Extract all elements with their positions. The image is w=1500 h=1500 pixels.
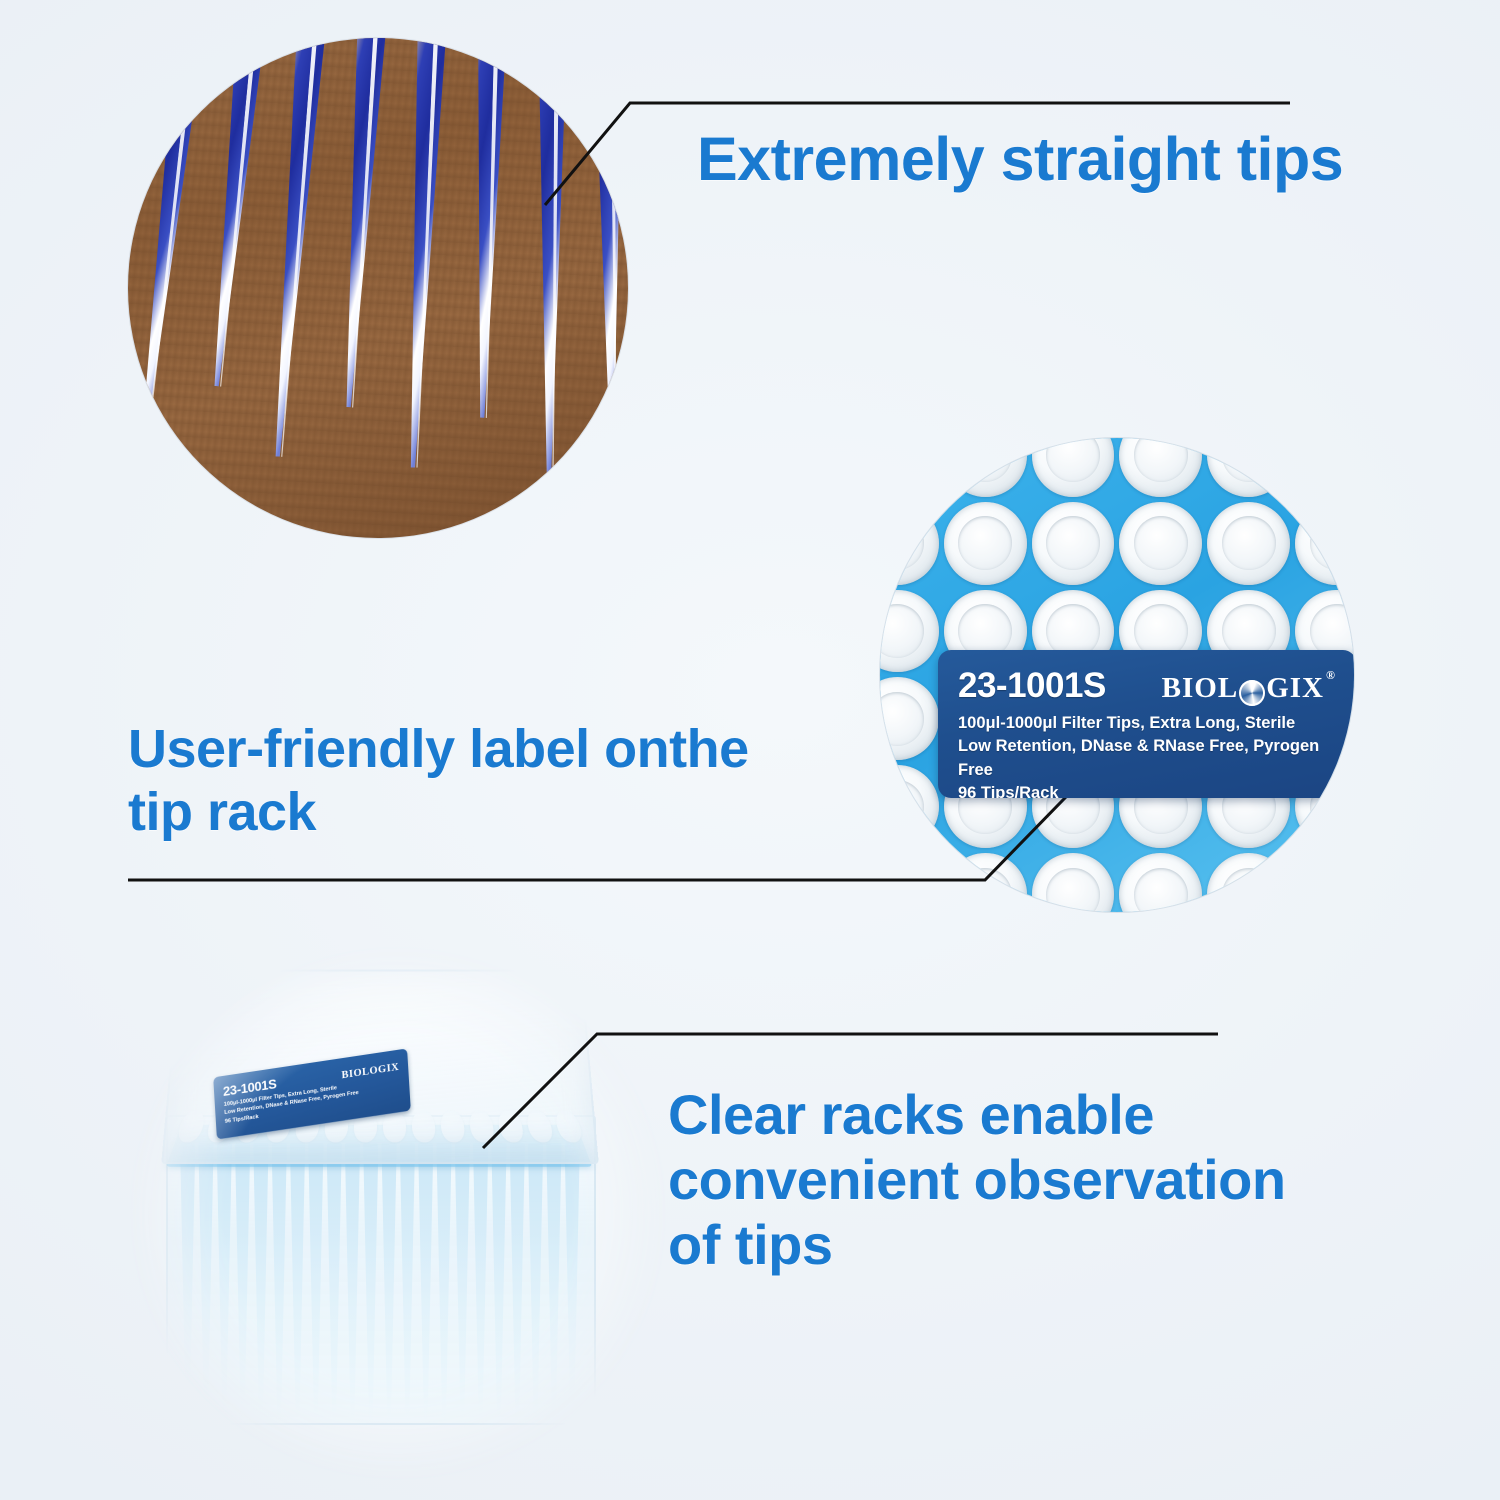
tip-shaft: [418, 1143, 433, 1423]
tip-shaft: [180, 1143, 195, 1423]
pipette-tip: [467, 38, 508, 418]
label-description: 100μl-1000μl Filter Tips, Extra Long, St…: [958, 712, 1336, 798]
callout-headline-tips: Extremely straight tips: [697, 124, 1343, 195]
label-header-row: 23-1001S BIOLGIX®: [958, 666, 1336, 706]
photo-rack-box: 23-1001S BIOLOGIX 100μl-1000μl Filter Ti…: [118, 935, 678, 1491]
rack-well: [1295, 502, 1354, 585]
tip-shaft: [272, 1143, 287, 1423]
rack-well: [1119, 438, 1202, 497]
pipette-tip: [263, 38, 328, 458]
tip-shaft: [436, 1143, 451, 1423]
rack-well: [880, 438, 939, 497]
rack-well: [1119, 502, 1202, 585]
tip-shaft: [308, 1143, 323, 1423]
rack-well: [880, 590, 939, 673]
biologix-swirl-icon: [1239, 680, 1265, 706]
tip-shaft: [491, 1143, 506, 1423]
tip-shaft: [235, 1143, 250, 1423]
pipette-tip: [128, 38, 208, 447]
tip-shaft: [565, 1143, 580, 1423]
infographic-canvas: 23-1001S BIOLGIX® 100μl-1000μl Filter Ti…: [0, 0, 1500, 1500]
photo-rack-topview: 23-1001S BIOLGIX® 100μl-1000μl Filter Ti…: [880, 438, 1354, 912]
tip-shaft: [455, 1143, 470, 1423]
tip-shaft: [345, 1143, 360, 1423]
label-sku: 23-1001S: [958, 666, 1106, 706]
tip-shafts: [174, 1143, 586, 1423]
rack-well: [1119, 853, 1202, 912]
rack-well: [944, 438, 1027, 497]
tip-shaft: [363, 1143, 378, 1423]
tip-shaft: [381, 1143, 396, 1423]
rack-well: [1207, 438, 1290, 497]
rack-well: [1032, 438, 1115, 497]
pipette-tip: [334, 38, 388, 408]
pipette-tip: [202, 38, 268, 388]
callout-headline-racks: Clear racks enable convenient observatio…: [668, 1083, 1286, 1278]
rack-well: [880, 502, 939, 585]
tip-shaft: [510, 1143, 525, 1423]
label-brand: BIOLGIX®: [1162, 672, 1336, 705]
rack-well: [880, 765, 939, 848]
rack-well: [1207, 502, 1290, 585]
tip-shaft: [290, 1143, 305, 1423]
tip-shaft: [253, 1143, 268, 1423]
rack-well: [944, 853, 1027, 912]
rack-well: [1032, 502, 1115, 585]
tip-shaft: [400, 1143, 415, 1423]
tip-shaft: [473, 1143, 488, 1423]
rack-well: [1295, 438, 1354, 497]
tip-shaft: [528, 1143, 543, 1423]
tip-shaft: [327, 1143, 342, 1423]
registered-mark: ®: [1326, 668, 1336, 683]
pipette-tip: [534, 38, 568, 478]
pipette-tip: [398, 38, 448, 468]
rack-well: [880, 677, 939, 760]
rack-well: [1295, 853, 1354, 912]
tip-shaft: [217, 1143, 232, 1423]
photo-tips-closeup: [128, 38, 628, 538]
rack-well: [944, 502, 1027, 585]
rack-well: [1032, 853, 1115, 912]
product-label: 23-1001S BIOLGIX® 100μl-1000μl Filter Ti…: [938, 650, 1354, 798]
tip-shaft: [198, 1143, 213, 1423]
pipette-tip: [593, 38, 627, 438]
tip-shaft: [546, 1143, 561, 1423]
rack-well: [1207, 853, 1290, 912]
callout-headline-label: User-friendly label onthe tip rack: [128, 718, 749, 843]
rack-well: [880, 853, 939, 912]
